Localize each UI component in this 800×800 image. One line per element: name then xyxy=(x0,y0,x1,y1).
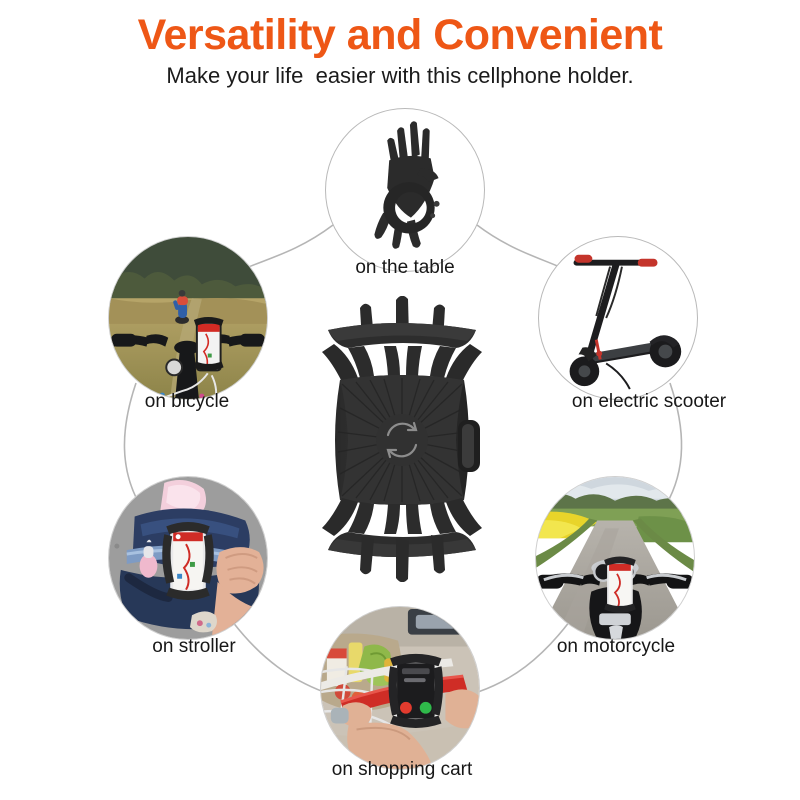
bubble-on-motorcycle[interactable] xyxy=(535,476,695,640)
bubble-on-shopping-cart[interactable] xyxy=(320,606,480,770)
motorcycle-road-photo xyxy=(536,477,694,639)
bicycle-handlebars-trail-photo xyxy=(109,237,267,399)
product-with-clamp-mount-illustration xyxy=(326,109,484,271)
label-on-electric-scooter: on electric scooter xyxy=(519,392,779,413)
bubble-on-stroller[interactable] xyxy=(108,476,268,640)
shopping-cart-phone-call-photo xyxy=(321,607,479,769)
electric-scooter-illustration xyxy=(539,237,697,399)
bubble-on-the-table[interactable] xyxy=(325,108,485,272)
usage-scenario-diagram: on the table xyxy=(0,0,800,800)
bubble-on-bicycle[interactable] xyxy=(108,236,268,400)
center-product-image xyxy=(312,296,492,582)
label-on-bicycle: on bicycle xyxy=(57,392,317,413)
bubble-on-electric-scooter[interactable] xyxy=(538,236,698,400)
label-on-stroller: on stroller xyxy=(64,637,324,658)
label-on-motorcycle: on motorcycle xyxy=(486,637,746,658)
label-on-shopping-cart: on shopping cart xyxy=(272,760,532,781)
stroller-with-phone-photo xyxy=(109,477,267,639)
label-on-the-table: on the table xyxy=(275,258,535,279)
